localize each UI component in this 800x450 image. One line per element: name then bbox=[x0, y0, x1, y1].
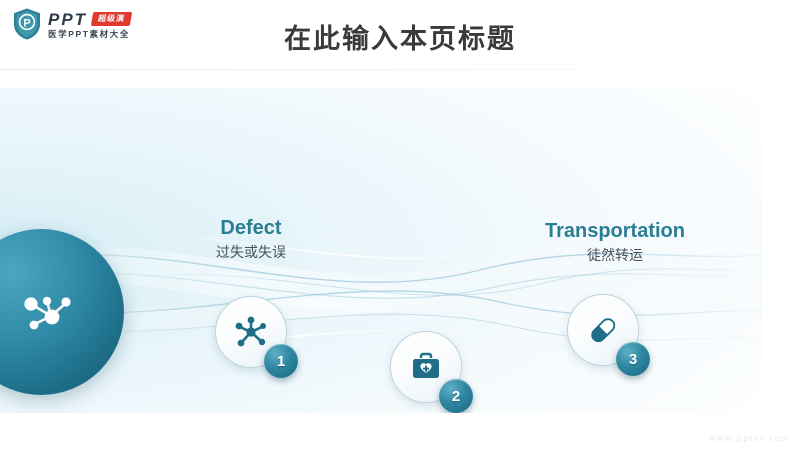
molecule-icon bbox=[233, 314, 269, 350]
process-node-1[interactable]: 1 bbox=[215, 296, 287, 368]
content-panel: 1 2 3 Defect bbox=[0, 88, 762, 413]
process-node-3[interactable]: 3 bbox=[567, 294, 639, 366]
header-divider bbox=[0, 69, 800, 70]
label-subtitle-3: 徒然转运 bbox=[505, 245, 725, 266]
node-badge-2: 2 bbox=[439, 379, 473, 413]
label-group-1: Defect 过失或失误 bbox=[141, 216, 361, 263]
label-title-3: Transportation bbox=[505, 219, 725, 243]
header-bar: P PPT 超级演 医学PPT素材大全 在此输入本页标题 bbox=[0, 0, 800, 72]
network-share-icon bbox=[20, 289, 78, 337]
process-node-2[interactable]: 2 bbox=[390, 331, 462, 403]
label-title-1: Defect bbox=[141, 216, 361, 240]
page-title: 在此输入本页标题 bbox=[0, 17, 800, 56]
medical-briefcase-icon bbox=[409, 350, 443, 384]
label-group-3: Transportation 徒然转运 bbox=[505, 219, 725, 266]
node-badge-3: 3 bbox=[616, 342, 650, 376]
node-badge-1: 1 bbox=[264, 344, 298, 378]
pill-capsule-icon bbox=[585, 312, 621, 348]
label-subtitle-1: 过失或失误 bbox=[141, 242, 361, 263]
site-watermark: www.ppter.com bbox=[710, 434, 790, 443]
